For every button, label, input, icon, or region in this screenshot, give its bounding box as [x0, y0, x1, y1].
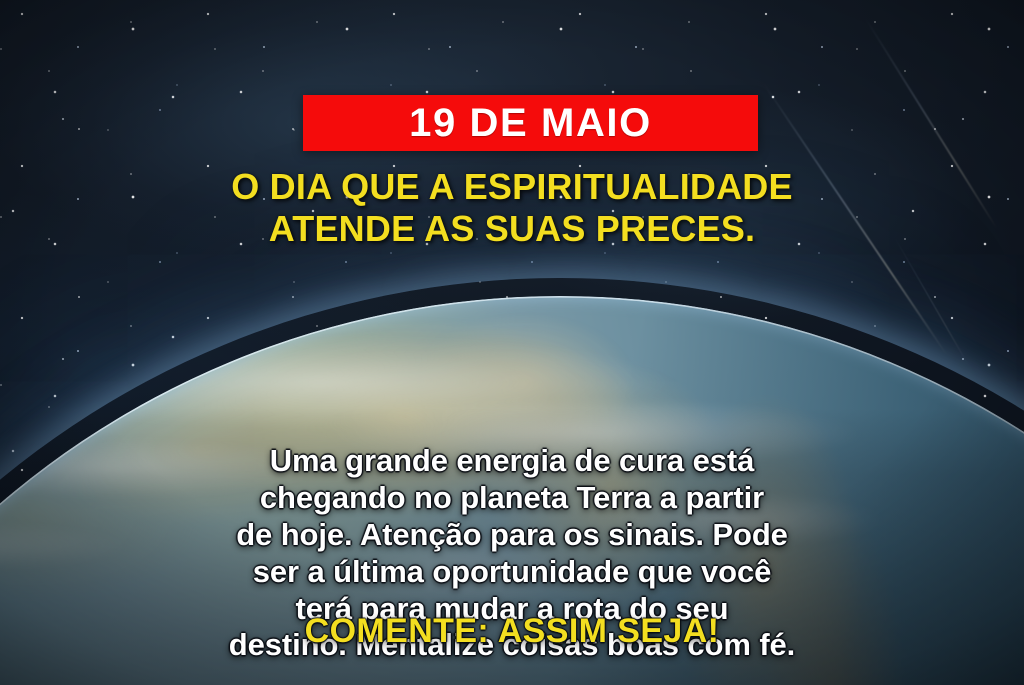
- headline-line-1: O DIA QUE A ESPIRITUALIDADE: [0, 166, 1024, 208]
- call-to-action-text: COMENTE: ASSIM SEJA!: [0, 613, 1024, 650]
- body-line-4: ser a última oportunidade que você: [60, 554, 964, 591]
- date-banner-label: 19 DE MAIO: [409, 103, 652, 143]
- body-line-2: chegando no planeta Terra a partir: [60, 480, 964, 517]
- inspirational-poster: 19 DE MAIO O DIA QUE A ESPIRITUALIDADE A…: [0, 0, 1024, 685]
- date-banner: 19 DE MAIO: [303, 95, 758, 151]
- body-line-1: Uma grande energia de cura está: [60, 443, 964, 480]
- headline-line-2: ATENDE AS SUAS PRECES.: [0, 208, 1024, 250]
- body-line-3: de hoje. Atenção para os sinais. Pode: [60, 517, 964, 554]
- headline: O DIA QUE A ESPIRITUALIDADE ATENDE AS SU…: [0, 166, 1024, 250]
- poster-content: 19 DE MAIO O DIA QUE A ESPIRITUALIDADE A…: [0, 0, 1024, 685]
